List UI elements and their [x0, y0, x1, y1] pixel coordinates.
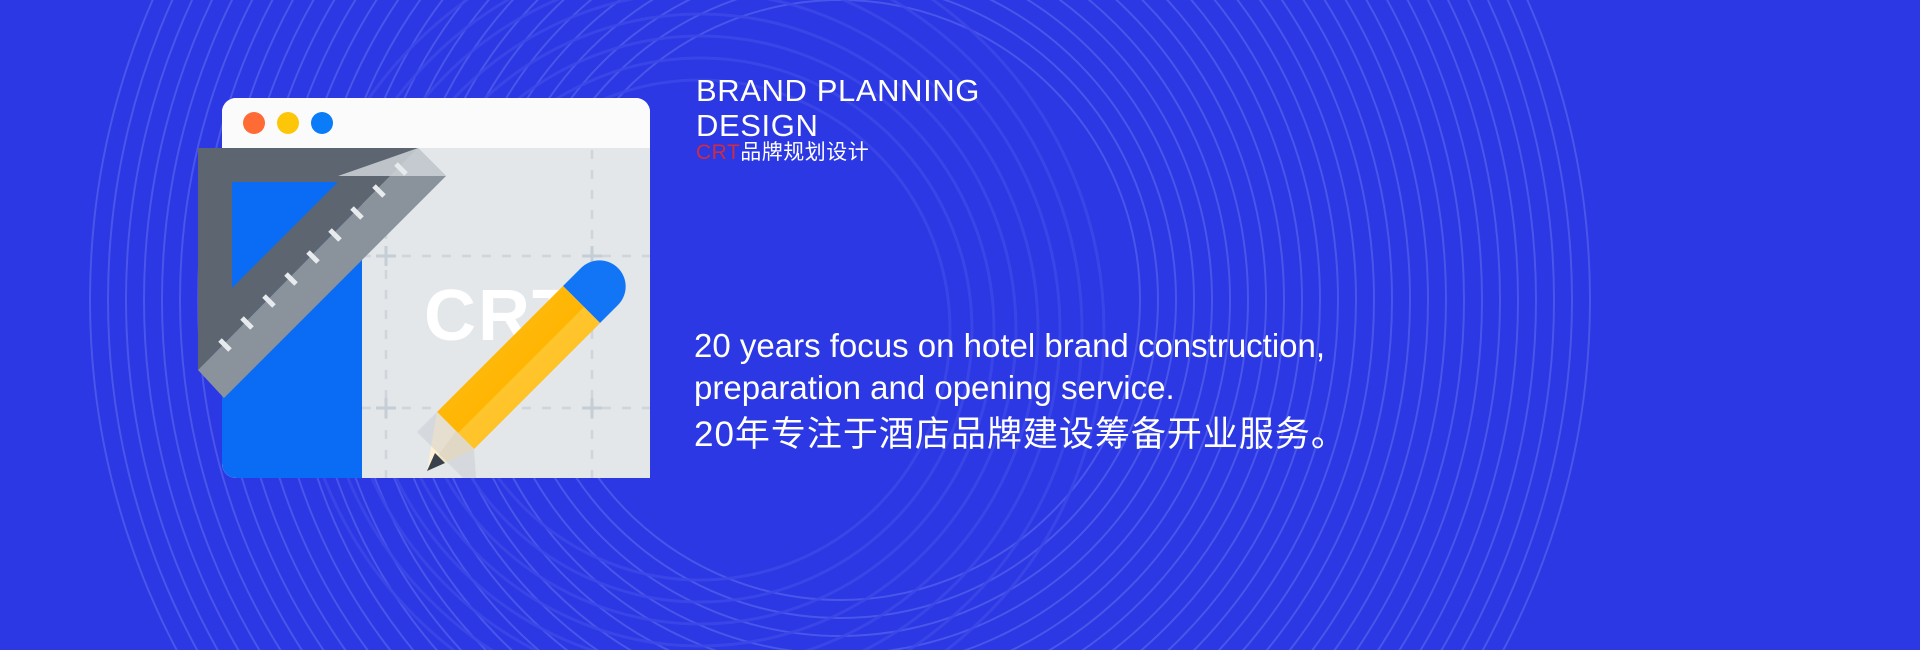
- banner-content: BRAND PLANNING DESIGN CRT品牌规划设计 20 years…: [690, 0, 1870, 650]
- tagline-english: 20 years focus on hotel brand constructi…: [694, 325, 1394, 409]
- subheading-chinese-text: 品牌规划设计: [740, 141, 869, 164]
- tagline-chinese: 20年专注于酒店品牌建设筹备开业服务。: [694, 412, 1394, 458]
- design-illustration: CRT: [188, 78, 708, 478]
- brand-banner: CRT: [0, 0, 1920, 650]
- subheading-chinese: CRT品牌规划设计: [696, 140, 869, 166]
- maximize-dot: [311, 112, 333, 134]
- subheading-mark: CRT: [696, 141, 740, 164]
- minimize-dot: [277, 112, 299, 134]
- close-dot: [243, 112, 265, 134]
- heading-brand-planning-design: BRAND PLANNING DESIGN: [696, 73, 1336, 143]
